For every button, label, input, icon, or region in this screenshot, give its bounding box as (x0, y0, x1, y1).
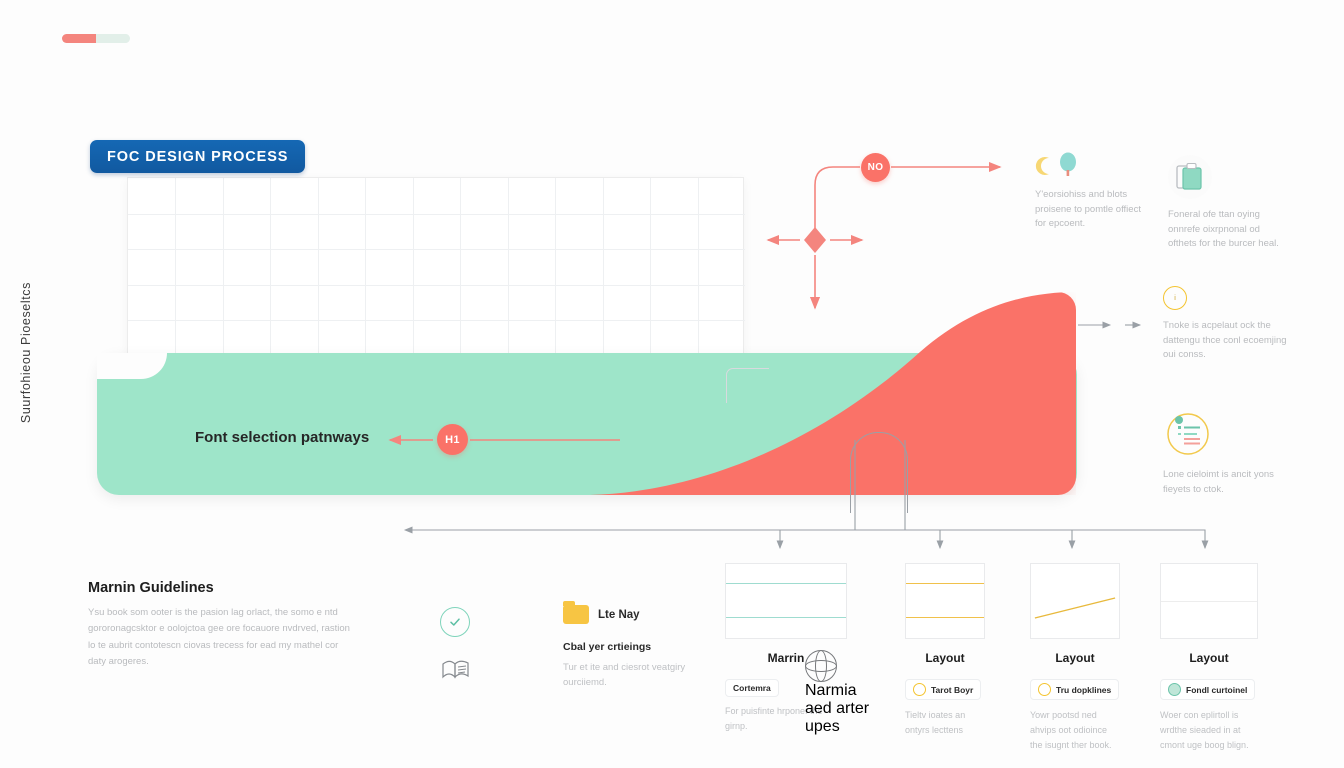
clipboard-icon (1168, 155, 1212, 199)
card-layout-1[interactable]: Layout Tarot Boyr Tieltv ioates an ontyr… (905, 563, 985, 738)
card-side-body: Narmia aed arter upes (805, 682, 877, 736)
card-layout-3[interactable]: Layout Fondl curtoinel Woer con eplirtol… (1160, 563, 1258, 753)
card-layout-2[interactable]: Layout Tru dopklines Yowr pootsd ned ahv… (1030, 563, 1120, 753)
guidelines-heading: Marnin Guidelines (88, 580, 358, 596)
band-node-label: H1 (445, 434, 460, 446)
card-chip[interactable]: Cortemra (725, 679, 779, 697)
annotation-moon-text: Y'eorsiohiss and blots proisene to pomtl… (1035, 188, 1145, 232)
guidelines-body: Ysu book som ooter is the pasion lag orl… (88, 605, 358, 670)
card-chip[interactable]: Fondl curtoinel (1160, 679, 1255, 700)
band-node-h1[interactable]: H1 (437, 424, 468, 455)
list-circle-icon (1163, 408, 1213, 458)
section-badge[interactable]: FOC DESIGN PROCESS (90, 140, 305, 173)
folder-sub-heading: Cbal yer crtieings (563, 641, 693, 653)
moon-tree-icon (1035, 152, 1145, 178)
card-title: Layout (1160, 651, 1258, 665)
card-chip[interactable]: Tru dopklines (1030, 679, 1119, 700)
card-body: Yowr pootsd ned ahvips oot odioince the … (1030, 708, 1120, 753)
globe-icon (805, 650, 837, 682)
check-circle-icon (440, 607, 470, 637)
guidelines-block: Marnin Guidelines Ysu book som ooter is … (88, 580, 358, 670)
annotation-circle-badge: i Tnoke is acpelaut ock the dattengu thc… (1163, 286, 1293, 363)
card-body: Tieltv ioates an ontyrs lecttens (905, 708, 985, 738)
card-title: Layout (905, 651, 985, 665)
card-chip-label: Fondl curtoinel (1186, 685, 1247, 695)
card-chip-label: Tarot Boyr (931, 685, 973, 695)
annotation-list-text: Lone cieloimt is ancit yons fieyets to c… (1163, 468, 1303, 497)
book-icon (441, 658, 471, 684)
annotation-moon-tree: Y'eorsiohiss and blots proisene to pomtl… (1035, 152, 1145, 232)
folder-label: Lte Nay (598, 609, 640, 621)
folder-note-block: Lte Nay Cbal yer crtieings Tur et ite an… (563, 605, 693, 690)
card-body: Woer con eplirtoll is wrdthe sieaded in … (1160, 708, 1258, 753)
annotation-circle-text: Tnoke is acpelaut ock the dattengu thce … (1163, 319, 1293, 363)
folder-row[interactable]: Lte Nay (563, 605, 693, 624)
card-thumbnail (725, 563, 847, 639)
annotation-list: Lone cieloimt is ancit yons fieyets to c… (1163, 408, 1303, 497)
folder-icon (563, 605, 589, 624)
chip-dot-icon (1168, 683, 1181, 696)
folder-body-text: Tur et ite and ciesrot veatgiry ourciiem… (563, 660, 693, 690)
annotation-clipboard: Foneral ofe ttan oying onnrefe oixrpnona… (1168, 155, 1288, 252)
infographic-canvas: Suurfohieou Pioeseltcs FOC DESIGN PROCES… (0, 0, 1344, 768)
card-chip[interactable]: Tarot Boyr (905, 679, 981, 700)
card-thumbnail (1030, 563, 1120, 639)
card-title: Layout (1030, 651, 1120, 665)
circle-badge-icon: i (1163, 286, 1187, 310)
section-badge-label: FOC DESIGN PROCESS (107, 149, 288, 165)
card-chip-label: Tru dopklines (1056, 685, 1111, 695)
decision-node-no[interactable]: NO (861, 153, 890, 182)
annotation-clipboard-text: Foneral ofe ttan oying onnrefe oixrpnona… (1168, 208, 1288, 252)
chip-dot-icon (913, 683, 926, 696)
card-thumbnail (1160, 563, 1258, 639)
decision-node-label: NO (868, 162, 884, 173)
card-chip-label: Cortemra (733, 683, 771, 693)
card-thumbnail (905, 563, 985, 639)
chip-dot-icon (1038, 683, 1051, 696)
card-side-globe: Narmia aed arter upes (805, 650, 877, 736)
